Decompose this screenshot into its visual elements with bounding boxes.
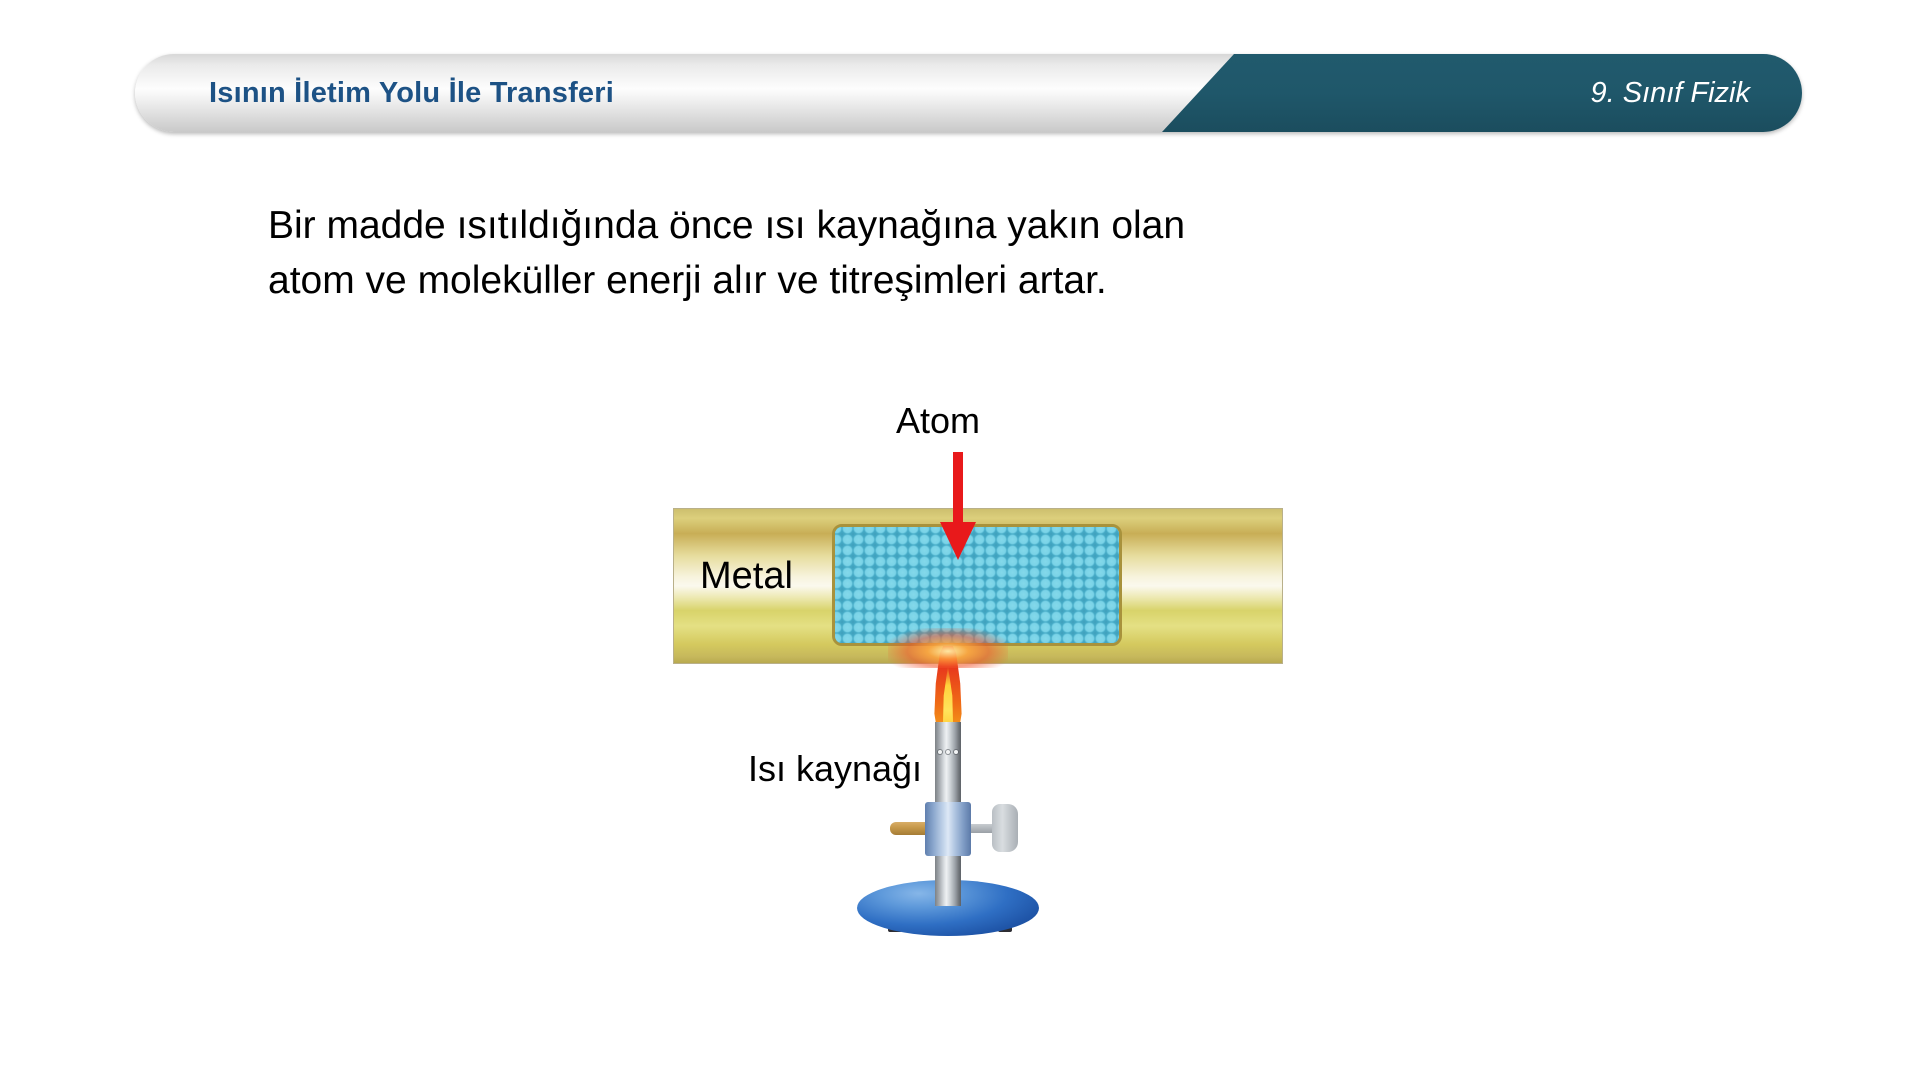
burner-base-foot <box>998 922 1012 932</box>
atom-label: Atom <box>896 400 980 442</box>
burner-knob-stem <box>970 824 996 833</box>
burner-collar <box>925 802 971 856</box>
flame-outer <box>931 636 965 744</box>
body-line-1: Bir madde ısıtıldığında önce ısı kaynağı… <box>268 198 1468 253</box>
burner-air-holes <box>935 748 961 756</box>
flame-icon <box>931 636 965 744</box>
heat-source-label: Isı kaynağı <box>748 748 922 790</box>
burner-air-hole <box>954 750 958 754</box>
header-banner: Isının İletim Yolu İle Transferi 9. Sını… <box>135 54 1802 132</box>
burner-tube <box>935 722 961 906</box>
burner-air-hole <box>938 750 942 754</box>
burner-air-hole <box>946 750 950 754</box>
page-title: Isının İletim Yolu İle Transferi <box>209 54 614 132</box>
conduction-diagram: Atom Metal Isı kaynağı <box>0 0 1920 1080</box>
burner-base <box>857 880 1039 936</box>
gas-inlet-nozzle <box>890 822 948 835</box>
metal-label: Metal <box>700 555 793 598</box>
atom-lattice <box>832 524 1122 646</box>
flame-core <box>942 666 954 740</box>
body-paragraph: Bir madde ısıtıldığında önce ısı kaynağı… <box>268 198 1468 309</box>
subject-label: 9. Sınıf Fizik <box>1590 54 1750 132</box>
atom-lattice-panel <box>832 524 1122 646</box>
atom-pointer-arrow <box>938 452 978 564</box>
body-line-2: atom ve moleküller enerji alır ve titreş… <box>268 253 1468 308</box>
metal-bar <box>673 508 1283 664</box>
burner-base-foot <box>888 922 902 932</box>
burner-adjust-knob <box>992 804 1018 852</box>
heated-glow-spot <box>888 628 1008 668</box>
